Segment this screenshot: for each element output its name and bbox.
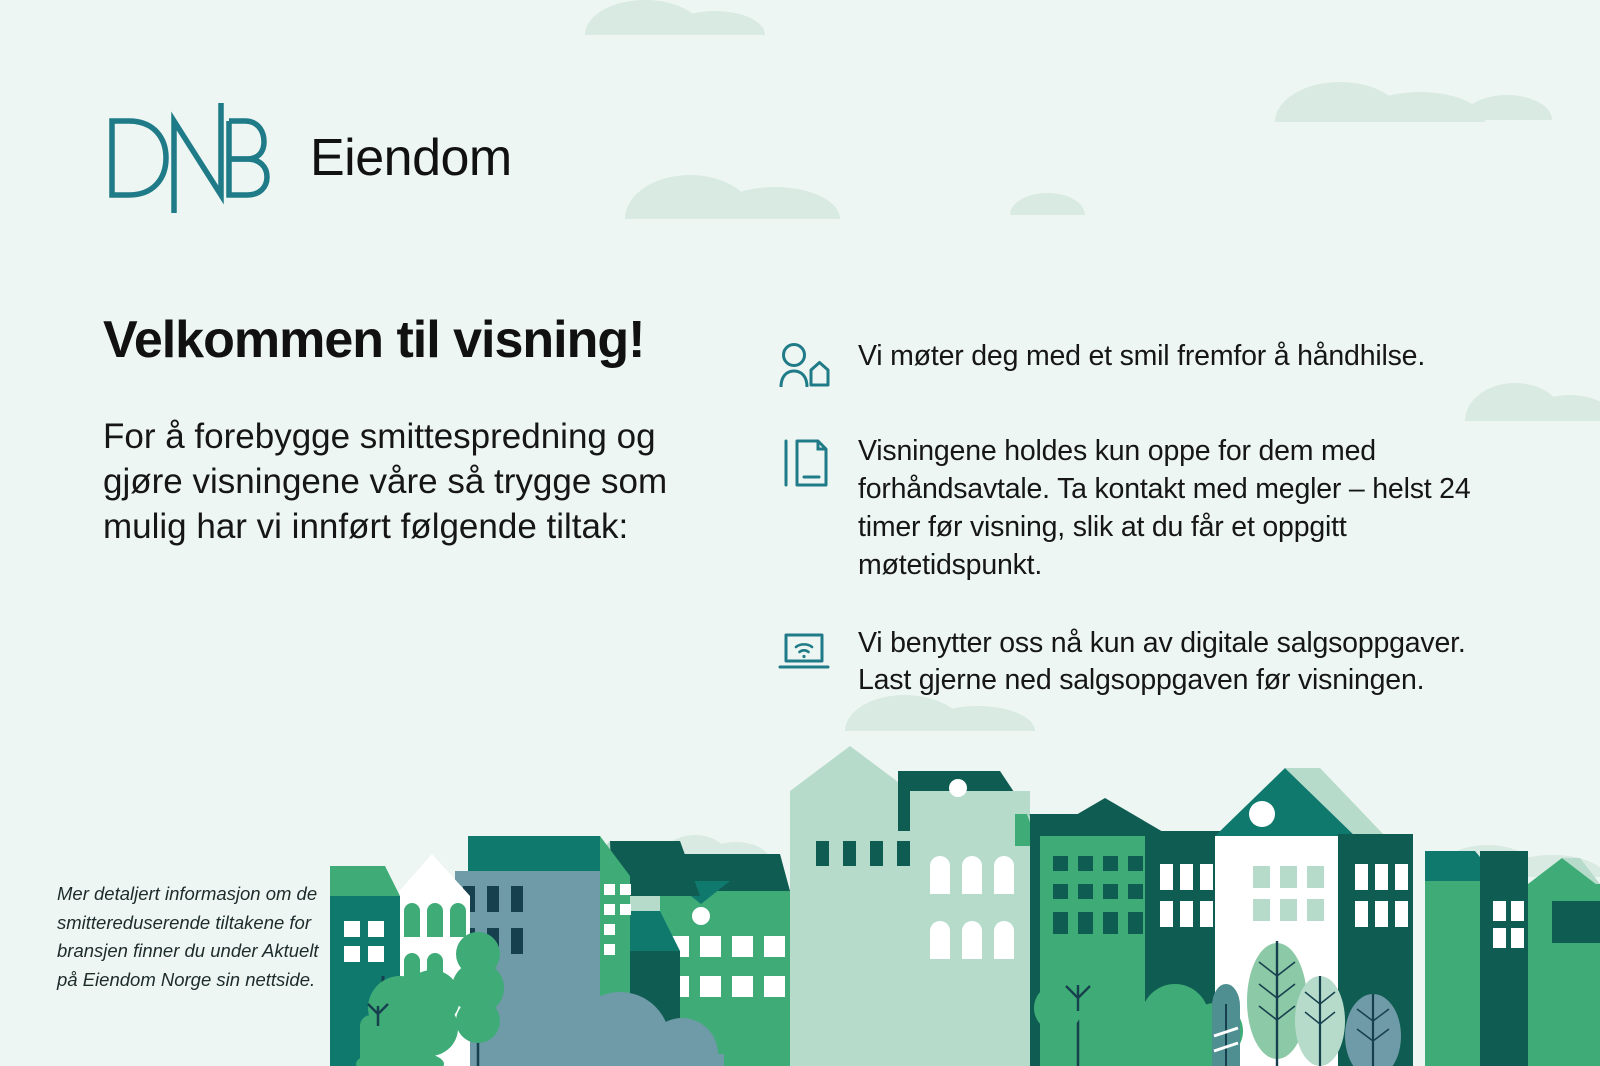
poster-canvas: Eiendom Velkommen til visning! For å for… xyxy=(0,0,1600,1066)
measure-item: Visningene holdes kun oppe for dem med f… xyxy=(778,433,1508,585)
measure-item: Vi benytter oss nå kun av digitale salgs… xyxy=(778,625,1508,701)
intro-paragraph: For å forebygge smittespredning og gjøre… xyxy=(103,415,723,549)
page-title: Velkommen til visning! xyxy=(103,312,644,369)
cloud-shape xyxy=(1010,193,1085,215)
measure-text: Vi benytter oss nå kun av digitale salgs… xyxy=(858,625,1508,701)
person-house-icon xyxy=(778,338,830,393)
measures-list: Vi møter deg med et smil fremfor å håndh… xyxy=(778,338,1508,700)
measure-item: Vi møter deg med et smil fremfor å håndh… xyxy=(778,338,1508,393)
brand-name: Eiendom xyxy=(310,132,512,184)
measure-text: Vi møter deg med et smil fremfor å håndh… xyxy=(858,338,1425,393)
cloud-shape xyxy=(1275,82,1485,122)
cloud-shape xyxy=(625,175,840,219)
document-pen-icon xyxy=(778,433,830,585)
cloud-shape xyxy=(1462,95,1552,120)
laptop-wifi-icon xyxy=(778,625,830,701)
brand-logo: Eiendom xyxy=(105,103,512,213)
measure-text: Visningene holdes kun oppe for dem med f… xyxy=(858,433,1508,585)
city-skyline-illustration xyxy=(0,736,1600,1066)
cloud-shape xyxy=(585,0,765,35)
dnb-logo-icon xyxy=(105,103,270,213)
cloud-shape xyxy=(845,695,1035,731)
